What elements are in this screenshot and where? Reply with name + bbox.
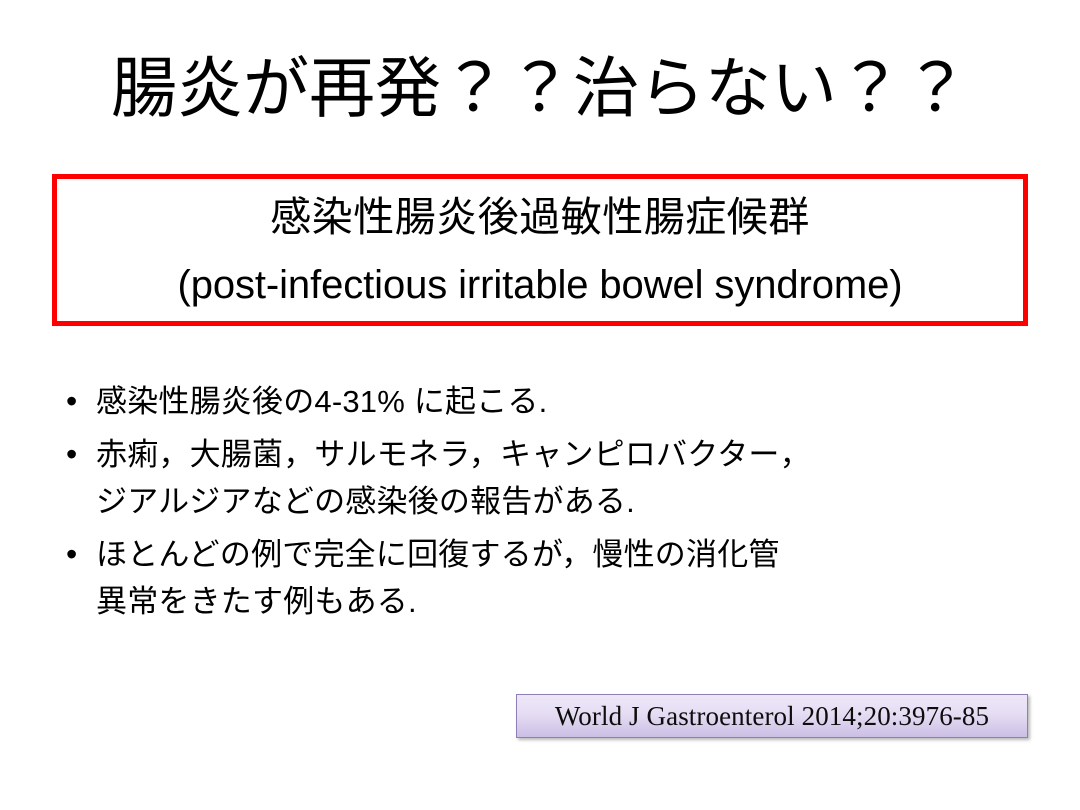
- list-item-line: 感染性腸炎後の4-31% に起こる.: [96, 378, 1042, 425]
- definition-english-term: (post-infectious irritable bowel syndrom…: [178, 265, 903, 305]
- bullet-dot-icon: •: [62, 378, 96, 425]
- list-item-line: ほとんどの例で完全に回復するが，慢性の消化管: [96, 531, 1042, 578]
- list-item-text: ほとんどの例で完全に回復するが，慢性の消化管 異常をきたす例もある.: [96, 531, 1042, 625]
- list-item: • ほとんどの例で完全に回復するが，慢性の消化管 異常をきたす例もある.: [62, 531, 1042, 625]
- slide-canvas: 腸炎が再発？？治らない？？ 感染性腸炎後過敏性腸症候群 (post-infect…: [0, 0, 1080, 810]
- definition-japanese-term: 感染性腸炎後過敏性腸症候群: [270, 197, 810, 238]
- citation-text: World J Gastroenterol 2014;20:3976-85: [555, 703, 989, 730]
- bullet-list: • 感染性腸炎後の4-31% に起こる. • 赤痢，大腸菌，サルモネラ，キャンピ…: [62, 378, 1042, 631]
- list-item: • 赤痢，大腸菌，サルモネラ，キャンピロバクター， ジアルジアなどの感染後の報告…: [62, 431, 1042, 525]
- list-item-line: 異常をきたす例もある.: [96, 578, 1042, 625]
- list-item-text: 感染性腸炎後の4-31% に起こる.: [96, 378, 1042, 425]
- definition-box: 感染性腸炎後過敏性腸症候群 (post-infectious irritable…: [52, 174, 1028, 326]
- list-item-line: ジアルジアなどの感染後の報告がある.: [96, 478, 1042, 525]
- list-item: • 感染性腸炎後の4-31% に起こる.: [62, 378, 1042, 425]
- page-title: 腸炎が再発？？治らない？？: [60, 38, 1020, 138]
- citation-badge: World J Gastroenterol 2014;20:3976-85: [516, 694, 1028, 738]
- bullet-dot-icon: •: [62, 431, 96, 478]
- bullet-dot-icon: •: [62, 531, 96, 578]
- list-item-text: 赤痢，大腸菌，サルモネラ，キャンピロバクター， ジアルジアなどの感染後の報告があ…: [96, 431, 1042, 525]
- list-item-line: 赤痢，大腸菌，サルモネラ，キャンピロバクター，: [96, 431, 1042, 478]
